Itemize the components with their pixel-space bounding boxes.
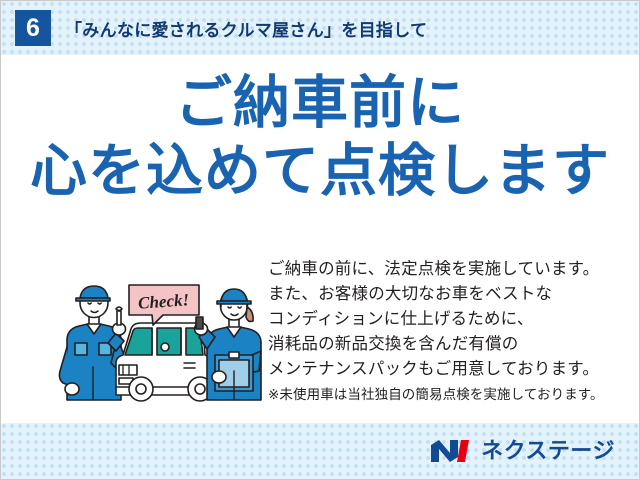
- body-note: ※未使用車は当社独自の簡易点検を実施しております。: [268, 384, 620, 406]
- body-line: ご納車の前に、法定点検を実施しています。: [268, 257, 620, 282]
- headline-line-2: 心を込めて点検します: [1, 141, 639, 203]
- body-copy: ご納車の前に、法定点検を実施しています。 また、お客様の大切なお車をベストな コ…: [268, 257, 620, 406]
- body-line: メンテナンスパックもご用意しております。: [268, 357, 620, 382]
- headline-line-1: ご納車前に: [1, 73, 639, 135]
- header: 6 「みんなに愛されるクルマ屋さん」を目指して: [1, 1, 427, 55]
- brand-logo: ネクステージ: [429, 435, 615, 467]
- mechanics-illustration: Check!: [53, 267, 265, 407]
- body-line: また、お客様の大切なお車をベストな: [268, 282, 620, 307]
- nextage-n-logo-icon: [429, 438, 473, 464]
- advertisement-page: 6 「みんなに愛されるクルマ屋さん」を目指して ご納車前に 心を込めて点検します…: [0, 0, 640, 480]
- header-title: 「みんなに愛されるクルマ屋さん」を目指して: [65, 16, 427, 41]
- body-line: 消耗品の新品交換を含んだ有償の: [268, 332, 620, 357]
- page-title: ご納車前に 心を込めて点検します: [1, 73, 639, 202]
- brand-name: ネクステージ: [481, 440, 615, 462]
- body-line: コンディションに仕上げるために、: [268, 307, 620, 332]
- speech-bubble-label: Check!: [138, 290, 190, 313]
- step-number-badge: 6: [15, 10, 51, 46]
